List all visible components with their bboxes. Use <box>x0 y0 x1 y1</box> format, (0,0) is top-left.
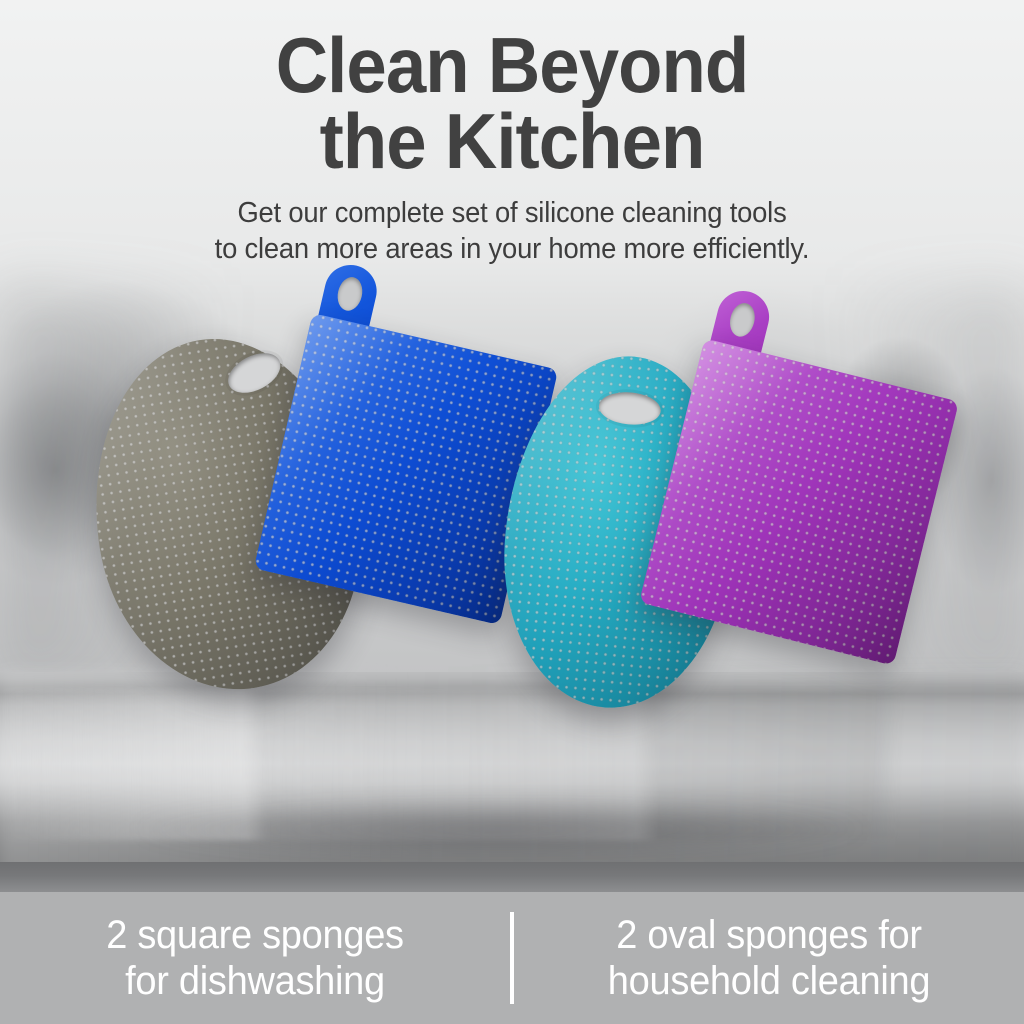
footer-right-line-1: 2 oval sponges for <box>527 912 1012 958</box>
footer-divider <box>510 912 514 1004</box>
page-title: Clean Beyond the Kitchen <box>36 0 988 179</box>
subhead-line-2: to clean more areas in your home more ef… <box>20 232 1003 268</box>
footer-left-line-2: for dishwashing <box>13 958 498 1004</box>
footer-shadow-band <box>0 862 1024 892</box>
subhead-line-1: Get our complete set of silicone cleanin… <box>20 196 1003 232</box>
headline-line-2: the Kitchen <box>36 104 988 180</box>
header-text-block: Clean Beyond the Kitchen Get our complet… <box>0 0 1024 268</box>
headline-line-1: Clean Beyond <box>36 28 988 104</box>
product-poster: Clean Beyond the Kitchen Get our complet… <box>0 0 1024 1024</box>
blue-square-hanging-hole <box>334 275 365 314</box>
purple-square-hanging-hole <box>727 300 759 339</box>
page-subtitle: Get our complete set of silicone cleanin… <box>20 179 1003 268</box>
footer-right-line-2: household cleaning <box>527 958 1012 1004</box>
footer-left-line-1: 2 square sponges <box>13 912 498 958</box>
footer-caption-left: 2 square sponges for dishwashing <box>13 912 498 1005</box>
footer-caption-right: 2 oval sponges for household cleaning <box>527 912 1012 1005</box>
footer-caption-bar: 2 square sponges for dishwashing 2 oval … <box>0 892 1024 1024</box>
